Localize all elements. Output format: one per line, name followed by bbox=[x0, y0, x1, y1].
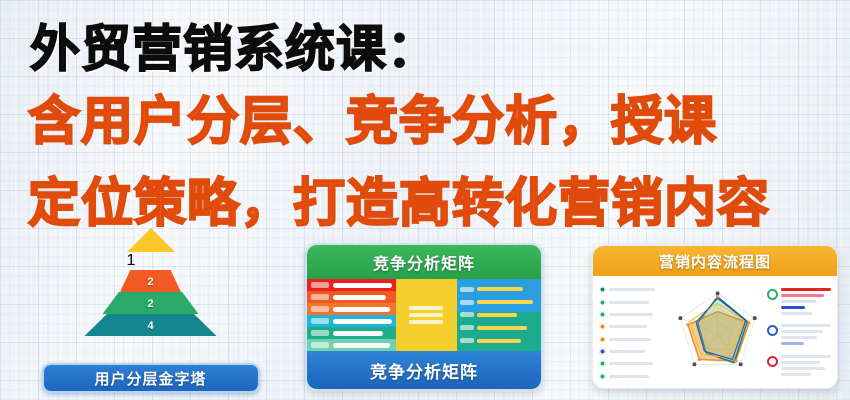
pyramid-graphic: 1 2 2 4 bbox=[18, 243, 283, 338]
matrix-row bbox=[307, 339, 396, 351]
pyramid-shape: 1 2 2 4 bbox=[85, 246, 217, 336]
pyramid-level-3-number: 2 bbox=[147, 298, 153, 310]
matrix-row bbox=[307, 303, 396, 315]
bullet-dot-icon bbox=[599, 299, 606, 306]
bullet-dot-icon bbox=[599, 373, 606, 380]
legend-line bbox=[609, 325, 647, 328]
target-ring-icon bbox=[767, 356, 778, 367]
pyramid-level-2-number: 2 bbox=[147, 276, 153, 288]
list-item bbox=[599, 286, 668, 293]
legend-lines bbox=[781, 324, 831, 348]
pyramid-level-4-number: 4 bbox=[147, 320, 153, 332]
list-item bbox=[767, 288, 831, 318]
matrix-body bbox=[307, 279, 541, 351]
bullet-dot-icon bbox=[599, 311, 606, 318]
pyramid-level-2: 2 bbox=[120, 270, 181, 292]
legend-line bbox=[609, 362, 653, 365]
matrix-row-tag bbox=[311, 306, 329, 312]
legend-lines bbox=[781, 288, 831, 318]
matrix-right-bar bbox=[477, 339, 521, 343]
matrix-row-tag bbox=[311, 342, 329, 348]
matrix-row bbox=[307, 315, 396, 327]
list-item bbox=[599, 323, 668, 330]
matrix-center-column bbox=[396, 279, 457, 351]
matrix-right-row bbox=[460, 300, 538, 305]
bullet-dot-icon bbox=[599, 336, 606, 343]
cards-row: 1 2 2 4 用户分层金字塔 竞争分析矩阵 bbox=[0, 243, 850, 400]
legend-line bbox=[609, 301, 649, 304]
matrix-row-tag bbox=[311, 318, 329, 324]
bullet-dot-icon bbox=[599, 286, 606, 293]
pyramid-level-4: 4 bbox=[85, 314, 217, 336]
matrix-right-column bbox=[457, 279, 541, 351]
matrix-right-tag bbox=[460, 287, 474, 292]
matrix-row-tag bbox=[311, 294, 329, 300]
list-item bbox=[767, 355, 831, 379]
matrix-footer-title: 竞争分析矩阵 bbox=[307, 351, 541, 389]
headline-line-2: 含用户分层、竞争分析，授课 bbox=[28, 96, 717, 148]
list-item bbox=[767, 324, 831, 348]
matrix-row-bar bbox=[333, 307, 390, 312]
legend-line bbox=[609, 313, 653, 316]
matrix-row-bar bbox=[333, 283, 392, 288]
matrix-right-row bbox=[460, 338, 538, 343]
radar-body bbox=[593, 276, 837, 389]
list-item bbox=[599, 360, 668, 367]
bullet-dot-icon bbox=[599, 348, 606, 355]
matrix-row-tag bbox=[311, 282, 329, 288]
pyramid-level-1-number: 1 bbox=[127, 252, 136, 269]
bullet-dot-icon bbox=[599, 323, 606, 330]
matrix-row bbox=[307, 327, 396, 339]
legend-lines bbox=[781, 355, 831, 379]
matrix-right-rows bbox=[457, 279, 541, 351]
list-item bbox=[599, 348, 668, 355]
radar-chart-svg bbox=[668, 281, 767, 385]
matrix-right-row bbox=[460, 325, 538, 330]
headline-line-1: 外贸营销系统课： bbox=[30, 24, 438, 74]
bullet-dot-icon bbox=[599, 360, 606, 367]
radar-chart bbox=[668, 281, 767, 385]
legend-line bbox=[609, 288, 655, 291]
matrix-right-bar bbox=[477, 300, 533, 304]
card-marketing-radar[interactable]: 营销内容流程图 bbox=[592, 245, 838, 389]
pyramid-label-button[interactable]: 用户分层金字塔 bbox=[42, 363, 260, 393]
matrix-row-bar bbox=[333, 319, 392, 324]
radar-header-title: 营销内容流程图 bbox=[593, 246, 837, 276]
radar-left-legend bbox=[597, 281, 668, 385]
matrix-row-bar bbox=[333, 295, 386, 300]
card-competition-matrix[interactable]: 竞争分析矩阵 bbox=[305, 243, 543, 391]
matrix-right-tag bbox=[460, 300, 474, 305]
matrix-left-column bbox=[307, 279, 396, 351]
matrix-right-tag bbox=[460, 325, 474, 330]
list-item bbox=[599, 336, 668, 343]
target-ring-icon bbox=[767, 289, 778, 300]
matrix-row-bar bbox=[333, 343, 390, 348]
matrix-right-bar bbox=[477, 326, 527, 330]
matrix-center-lines bbox=[409, 303, 443, 327]
matrix-right-row bbox=[460, 287, 538, 292]
legend-line bbox=[609, 375, 649, 378]
matrix-row-tag bbox=[311, 330, 329, 336]
matrix-header-title: 竞争分析矩阵 bbox=[307, 245, 541, 279]
matrix-right-tag bbox=[460, 338, 474, 343]
matrix-right-bar bbox=[477, 287, 523, 291]
list-item bbox=[599, 311, 668, 318]
matrix-row bbox=[307, 279, 396, 291]
matrix-row-bar bbox=[333, 331, 383, 336]
pyramid-level-1: 1 bbox=[127, 228, 175, 270]
legend-line bbox=[609, 350, 645, 353]
matrix-right-row bbox=[460, 312, 538, 317]
list-item bbox=[599, 373, 668, 380]
card-user-pyramid[interactable]: 1 2 2 4 用户分层金字塔 bbox=[18, 243, 283, 393]
legend-line bbox=[609, 338, 651, 341]
radar-right-legend bbox=[767, 281, 833, 385]
matrix-right-bar bbox=[477, 313, 517, 317]
target-ring-icon bbox=[767, 325, 778, 336]
headline-line-3: 定位策略，打造高转化营销内容 bbox=[28, 178, 770, 230]
matrix-right-tag bbox=[460, 312, 474, 317]
matrix-row bbox=[307, 291, 396, 303]
poster-canvas: 外贸营销系统课： 含用户分层、竞争分析，授课 定位策略，打造高转化营销内容 1 … bbox=[0, 0, 850, 400]
pyramid-level-3: 2 bbox=[103, 292, 199, 314]
list-item bbox=[599, 299, 668, 306]
